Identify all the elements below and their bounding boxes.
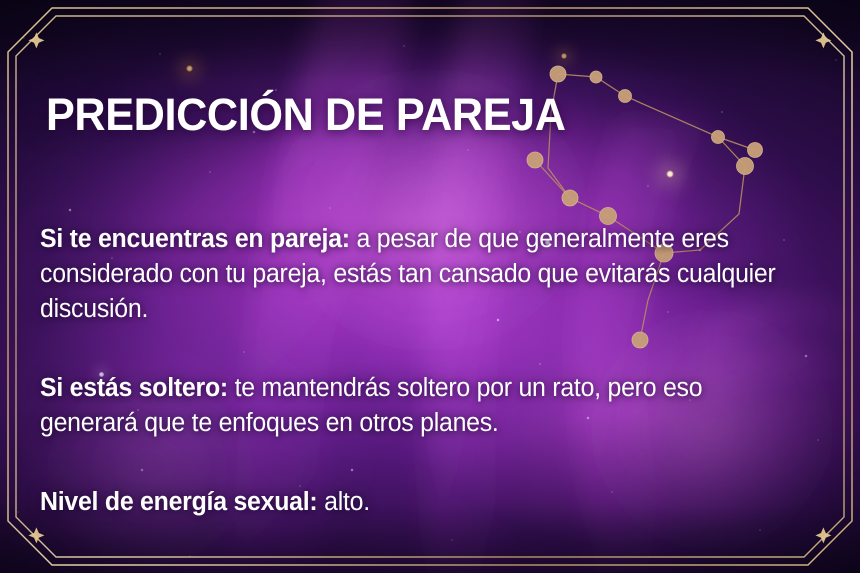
paragraph-single-lead: Si estás soltero: — [40, 374, 228, 402]
page-title: PREDICCIÓN DE PAREJA — [46, 92, 566, 137]
paragraph-single: Si estás soltero: te mantendrás soltero … — [40, 371, 781, 441]
paragraph-couple-lead: Si te encuentras en pareja: — [40, 225, 350, 253]
horoscope-poster: PREDICCIÓN DE PAREJA Si te encuentras en… — [0, 0, 860, 573]
paragraph-couple: Si te encuentras en pareja: a pesar de q… — [40, 222, 781, 327]
poster-content: PREDICCIÓN DE PAREJA Si te encuentras en… — [0, 0, 860, 573]
paragraph-energy-lead: Nivel de energía sexual: — [40, 488, 317, 516]
paragraph-energy-rest: alto. — [317, 488, 369, 516]
prediction-body: Si te encuentras en pareja: a pesar de q… — [40, 196, 800, 545]
paragraph-energy: Nivel de energía sexual: alto. — [40, 485, 781, 520]
